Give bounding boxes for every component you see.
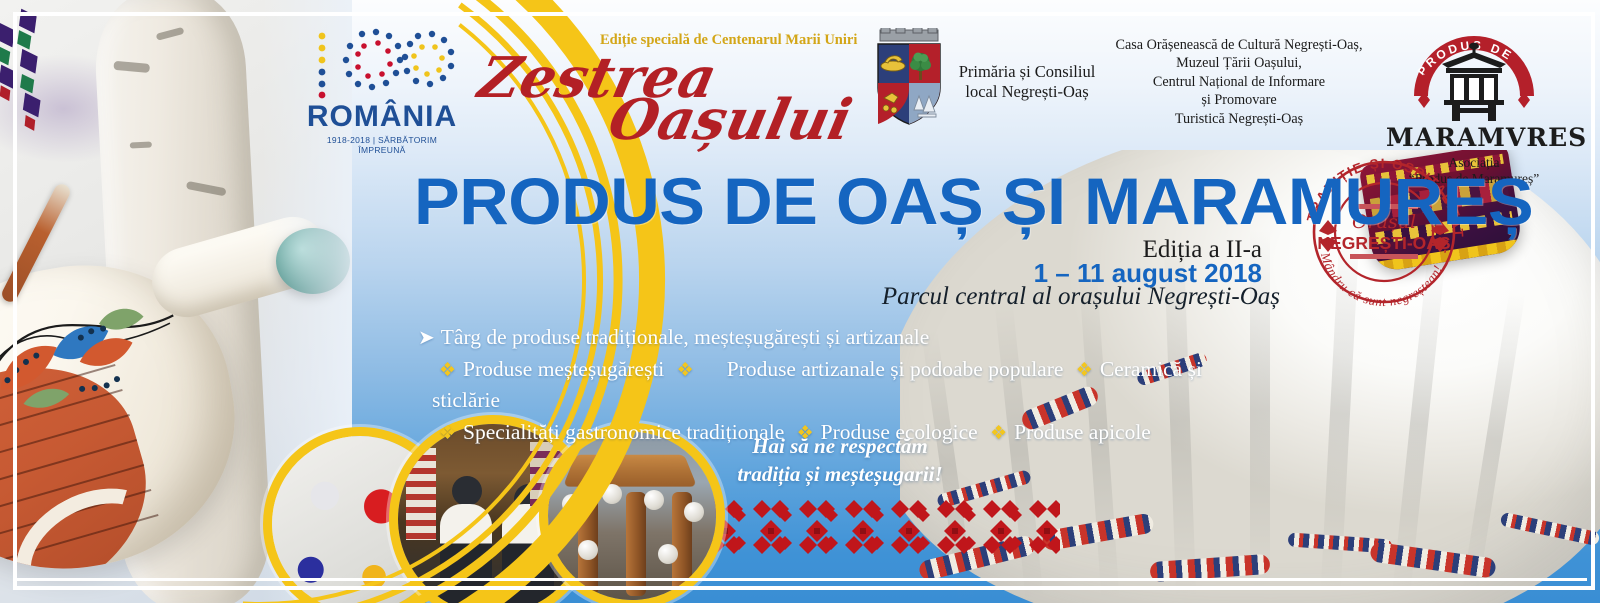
diamond-bullet-icon: ❖	[1076, 360, 1093, 381]
arrow-bullet-icon: ➤	[418, 327, 435, 349]
centenary-100-icon	[306, 26, 458, 102]
centenary-tagline: 1918-2018 | SĂRBĂTORIM ÎMPREUNĂ	[306, 135, 458, 155]
list-item: ➤Târg de produse tradiționale, meșteșugă…	[418, 322, 1248, 354]
coat-of-arms-icon	[872, 28, 946, 126]
diamond-bullet-icon: ❖	[439, 423, 456, 444]
bottom-rule	[13, 578, 1587, 581]
festival-name-line2: Oașului	[605, 96, 856, 144]
circle-photo-wooden-well	[548, 432, 716, 600]
offer-headline: Târg de produse tradiționale, meșteșugăr…	[441, 325, 930, 349]
institutions-label: Casa Orășenească de Cultură Negrești-Oaș…	[1108, 36, 1370, 128]
diamond-bullet-icon: ❖	[990, 423, 1007, 444]
centenary-logo: ROMÂNIA 1918-2018 | SĂRBĂTORIM ÎMPREUNĂ	[306, 26, 458, 142]
slogan-text: Hai să ne respectăm tradiția și meșteșug…	[702, 432, 978, 488]
offer-item: Produse artizanale și podoabe populare	[727, 357, 1064, 381]
venue-label: Parcul central al orașului Negrești-Oaș	[0, 283, 1280, 311]
page-title: PRODUS DE OAȘ ȘI MARAMUREȘ	[414, 168, 1308, 234]
diamond-bullet-icon: ❖	[439, 360, 456, 381]
festival-poster: ROMÂNIA 1918-2018 | SĂRBĂTORIM ÎMPREUNĂ …	[0, 0, 1600, 603]
diamond-bullet-icon: ❖	[677, 360, 694, 381]
festival-logo: Ediție specială de Centenarul Marii Unir…	[470, 30, 840, 142]
maramures-gate-icon: PRODUS DE	[1386, 18, 1562, 126]
city-hall-label: Primăria și Consiliul local Negrești-Oaș	[952, 62, 1102, 102]
list-item: ❖Produse meșteșugărești ❖Produse artizan…	[418, 354, 1248, 417]
red-cross-stitch-band	[700, 492, 1060, 558]
centenary-country-label: ROMÂNIA	[306, 102, 458, 132]
offer-item: Produse meșteșugărești	[463, 357, 664, 381]
offer-item: Produse apicole	[1014, 420, 1151, 444]
offer-list: ➤Târg de produse tradiționale, meșteșugă…	[418, 322, 1248, 448]
